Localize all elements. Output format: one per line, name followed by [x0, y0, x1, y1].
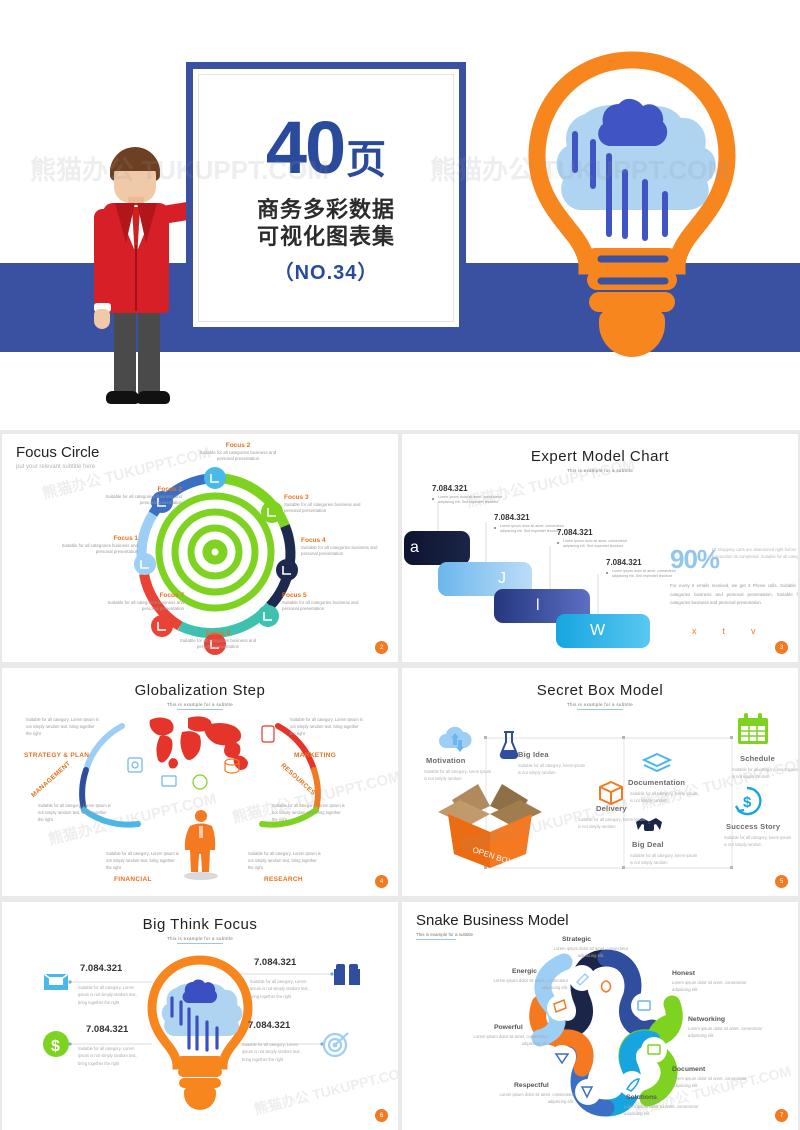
hero-number-label: （NO.34）	[274, 256, 379, 285]
stat-item[interactable]: 7.084.321 Lorem ipsum dolor sit amet, co…	[557, 528, 635, 550]
focus-label-title: Focus 2	[90, 486, 182, 493]
page-count-block: 40 页	[266, 111, 386, 185]
focus-label-body: Suitable for all categories business and…	[284, 502, 376, 515]
businessman-silhouette	[180, 808, 222, 880]
snake-body: Lorem ipsum dolor sit amet, consectetur …	[672, 980, 758, 993]
lightbulb-brain-icon	[142, 956, 258, 1106]
slide-number-badge: 2	[375, 641, 388, 654]
focus-label[interactable]: Focus 7 Suitable for all categories busi…	[92, 592, 184, 613]
step-label[interactable]: STRATEGY & PLAN	[24, 752, 89, 759]
chart-card-letter: l	[536, 597, 540, 615]
hero-subtitle-line1: 商务多彩数据	[257, 197, 395, 224]
page-title: Globalization Step	[2, 682, 398, 699]
step-text: Suitable for all category, Lorem Ipsum i…	[38, 802, 112, 823]
flask-icon	[498, 730, 520, 758]
cloud-upload-download-icon	[438, 726, 472, 756]
box-item-body: Suitable for all category, lorem Ipsum i…	[518, 762, 588, 776]
step-text: Suitable for all category, Lorem Ipsum i…	[272, 802, 346, 823]
focus-label-title: Focus 6	[172, 630, 264, 637]
focus-label-body: Suitable for all categories business and…	[301, 545, 393, 558]
slide-number-badge: 7	[775, 1109, 788, 1122]
focus-label-body: Suitable for all categories business and…	[90, 494, 182, 507]
snake-body: Lorem ipsum dolor sit amet, consectetur …	[466, 1034, 548, 1047]
box-item-label[interactable]: Documentation	[628, 778, 685, 787]
slide-number-badge: 6	[375, 1109, 388, 1122]
stat-desc: Lorem ipsum dolor sit amet, consectetur …	[432, 495, 510, 506]
calendar-icon	[736, 712, 770, 746]
focus-label-title: Focus 3	[284, 494, 376, 501]
svg-text:$: $	[743, 794, 752, 811]
open-box-illustration: OPEN BOX	[430, 778, 550, 858]
page-title: Snake Business Model	[416, 912, 798, 929]
stat-body: Suitable for all category, Lorem Ipsum i…	[242, 1041, 310, 1063]
step-label[interactable]: MARKETING	[294, 752, 336, 759]
focus-label[interactable]: Focus 5 Suitable for all categories busi…	[282, 592, 374, 613]
percent-description: Of shopping carts are abandoned right be…	[712, 547, 798, 560]
focus-label-body: Suitable for all categories business and…	[192, 450, 284, 463]
stat-body: Suitable for all category, Lorem Ipsum i…	[250, 978, 318, 1000]
stat-body: Suitable for all category, Lorem Ipsum i…	[78, 1045, 146, 1067]
snake-label[interactable]: Honest	[672, 970, 695, 977]
focus-label-body: Suitable for all categories business and…	[282, 600, 374, 613]
stat-value: 7.084.321	[80, 963, 122, 974]
page-subtitle: This is example for a subtitle	[2, 702, 398, 707]
page-count: 40	[266, 111, 344, 185]
body-paragraph: For every 6 emails received, we get 3 Ph…	[670, 582, 798, 608]
hero-banner: 40 页 商务多彩数据 可视化图表集 （NO.34） 熊猫办公 TUKUPPT.…	[0, 0, 800, 430]
snake-label[interactable]: Powerful	[494, 1024, 523, 1031]
snake-label[interactable]: Energic	[512, 968, 537, 975]
focus-label[interactable]: Focus 6 Suitable for all categories busi…	[172, 630, 264, 651]
svg-text:$: $	[51, 1038, 60, 1055]
stat-value: 7.084.321	[432, 484, 510, 493]
slide-big-think-focus[interactable]: Big Think Focus This is example for a su…	[2, 902, 398, 1130]
snake-body: Lorem ipsum dolor sit amet, consectetur …	[492, 1092, 574, 1105]
snake-body: Lorem ipsum dolor sit amet, consectetur …	[672, 1076, 758, 1089]
focus-label-body: Suitable for all categories business and…	[172, 638, 264, 651]
lightbulb-brain-icon	[515, 52, 750, 347]
mini-icon-t[interactable]: t	[723, 626, 726, 636]
box-item-label[interactable]: Delivery	[596, 804, 627, 813]
chart-card-letter: J	[498, 570, 506, 588]
box-item-body: Suitable for all category, lorem Ipsum i…	[578, 816, 648, 830]
page-subtitle: This is example for a subtitle	[416, 932, 798, 937]
step-text: Suitable for all category, Lorem Ipsum i…	[248, 850, 322, 871]
focus-label[interactable]: Focus 2 Suitable for all categories busi…	[90, 486, 182, 507]
gift-icon[interactable]	[332, 960, 362, 986]
stat-value: 7.084.321	[557, 528, 635, 537]
box-item-label[interactable]: Big Idea	[518, 750, 549, 759]
step-text: Suitable for all category, Lorem Ipsum i…	[106, 850, 180, 871]
box-item-label[interactable]: Success Story	[726, 822, 780, 831]
focus-label-title: Focus 4	[301, 537, 393, 544]
slide-globalization-step[interactable]: Globalization Step This is example for a…	[2, 668, 398, 896]
box-item-body: Suitable for all category, lorem Ipsum i…	[630, 790, 700, 804]
focus-label[interactable]: Focus 3 Suitable for all categories busi…	[284, 494, 376, 515]
slide-header: Snake Business Model This is example for…	[402, 902, 798, 940]
slide-expert-model-chart[interactable]: Expert Model Chart This is example for a…	[402, 434, 798, 662]
hero-subtitle: 商务多彩数据 可视化图表集	[257, 197, 395, 251]
focus-label-body: Suitable for all categories business and…	[46, 543, 138, 556]
layers-icon	[642, 752, 672, 776]
hero-title-block: 40 页 商务多彩数据 可视化图表集 （NO.34）	[186, 62, 466, 334]
stat-value: 7.084.321	[254, 957, 296, 968]
focus-label-title: Focus 7	[92, 592, 184, 599]
target-icon[interactable]	[322, 1030, 350, 1058]
presenter-illustration	[70, 145, 190, 410]
stat-value: 7.084.321	[86, 1024, 128, 1035]
snake-label[interactable]: Networking	[688, 1016, 725, 1023]
dollar-icon[interactable]: $	[42, 1030, 70, 1058]
snake-label[interactable]: Document	[672, 1066, 705, 1073]
slide-header: Globalization Step This is example for a…	[2, 668, 398, 710]
snake-label[interactable]: Strategic	[562, 936, 591, 943]
mini-icon-row[interactable]: x t v	[692, 626, 756, 636]
slide-secret-box-model[interactable]: Secret Box Model This is example for a s…	[402, 668, 798, 896]
focus-label-body: Suitable for all categories business and…	[92, 600, 184, 613]
box-item-body: Suitable for all category, lorem Ipsum i…	[724, 834, 794, 848]
mini-icon-x[interactable]: x	[692, 626, 697, 636]
box-item-body: Suitable for all category, lorem Ipsum i…	[424, 768, 494, 782]
stat-item[interactable]: 7.084.321 Lorem ipsum dolor sit amet, co…	[432, 484, 510, 506]
center-icon-cluster	[122, 756, 282, 804]
mini-icon-v[interactable]: v	[751, 626, 756, 636]
chart-card-letter: a	[410, 539, 419, 557]
box-item-label[interactable]: Schedule	[740, 754, 775, 763]
slide-number-badge: 4	[375, 875, 388, 888]
slide-number-badge: 3	[775, 641, 788, 654]
snake-label[interactable]: Respectful	[514, 1082, 549, 1089]
slide-number-badge: 5	[775, 875, 788, 888]
mail-icon[interactable]	[42, 970, 70, 994]
slide-snake-business-model[interactable]: Snake Business Model This is example for…	[402, 902, 798, 1130]
step-text: Suitable for all category, Lorem Ipsum i…	[26, 716, 100, 737]
step-label[interactable]: FINANCIAL	[114, 876, 152, 883]
snake-body: Lorem ipsum dolor sit amet, consectetur …	[548, 946, 634, 959]
stat-value: 7.084.321	[494, 513, 572, 522]
hero-subtitle-line2: 可视化图表集	[257, 224, 395, 251]
focus-label[interactable]: Focus 4 Suitable for all categories busi…	[301, 537, 393, 558]
focus-label-title: Focus 2	[192, 442, 284, 449]
focus-label[interactable]: Focus 1 Suitable for all categories busi…	[46, 535, 138, 556]
step-label[interactable]: RESEARCH	[264, 876, 303, 883]
page-unit: 页	[346, 140, 386, 180]
focus-label[interactable]: Focus 2 Suitable for all categories busi…	[192, 442, 284, 463]
chart-card-letter: W	[590, 622, 605, 640]
step-text: Suitable for all category, Lorem Ipsum i…	[290, 716, 364, 737]
snake-label[interactable]: Solutions	[626, 1094, 657, 1101]
slide-grid: Focus Circle put your relevant subtitle …	[0, 430, 800, 1130]
chart-card[interactable]: a	[404, 531, 470, 565]
box-item-label[interactable]: Motivation	[426, 756, 466, 765]
package-icon	[598, 780, 624, 806]
snake-body: Lorem ipsum dolor sit amet, consectetur …	[688, 1026, 770, 1039]
slide-focus-circle[interactable]: Focus Circle put your relevant subtitle …	[2, 434, 398, 662]
snake-body: Lorem ipsum dolor sit amet, consectetur …	[484, 978, 568, 991]
box-item-body: Suitable for all category, lorem Ipsum i…	[732, 766, 798, 780]
stat-body: Suitable for all category, Lorem Ipsum i…	[78, 984, 146, 1006]
box-item-body: Suitable for all category, lorem Ipsum i…	[630, 852, 700, 866]
focus-label-title: Focus 1	[46, 535, 138, 542]
stat-desc: Lorem ipsum dolor sit amet, consectetur …	[557, 539, 635, 550]
dollar-refresh-icon: $	[732, 786, 762, 816]
stat-value: 7.084.321	[248, 1020, 290, 1031]
chart-card[interactable]: W	[556, 614, 650, 648]
snake-body: Lorem ipsum dolor sit amet, consectetur …	[624, 1104, 710, 1117]
focus-label-title: Focus 5	[282, 592, 374, 599]
box-item-label[interactable]: Big Deal	[632, 840, 664, 849]
